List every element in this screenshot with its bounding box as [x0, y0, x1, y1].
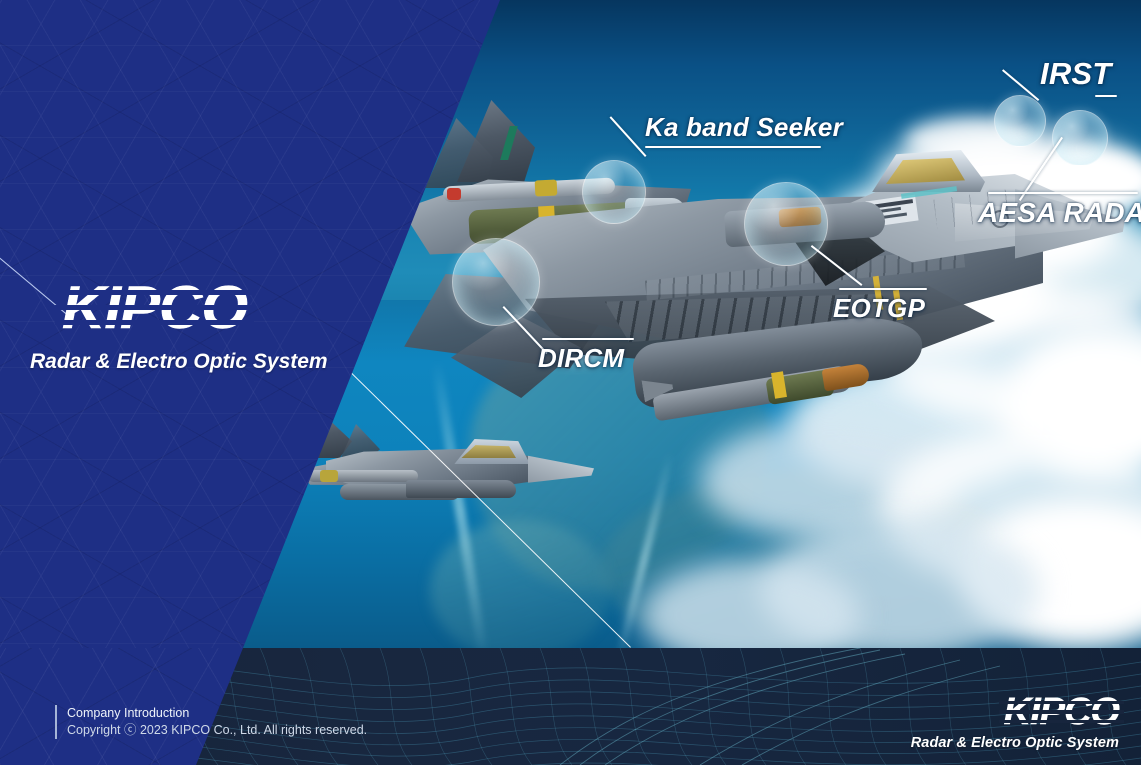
slide-canvas: IRST AESA RADAR Ka band Seeker EOTGP DIR…: [0, 0, 1141, 765]
footer-band: Company Introduction Copyright ⓒ 2023 KI…: [0, 648, 1141, 765]
callout-overline-eotgp: [839, 288, 927, 290]
callout-overline-aesa-radar: [988, 192, 1138, 194]
highlight-sphere-irst: [994, 95, 1046, 147]
highlight-sphere-dircm: [452, 238, 540, 326]
secondary-aircraft: [296, 408, 596, 518]
callout-label-aesa-radar: AESA RADAR: [978, 199, 1141, 227]
footer-line-copyright: Copyright ⓒ 2023 KIPCO Co., Ltd. All rig…: [67, 722, 367, 739]
kipco-wordmark: KIPCO: [62, 278, 247, 338]
highlight-sphere-eotgp: [744, 182, 828, 266]
callout-eotgp: EOTGP: [833, 288, 927, 321]
footer-kipco-wordmark: KIPCO: [1004, 693, 1119, 731]
footer-kipco-wordmark-text: KIPCO: [1004, 691, 1119, 733]
kipco-wordmark-text: KIPCO: [62, 274, 247, 341]
footer-brand-lockup: KIPCO Radar & Electro Optic System: [911, 693, 1119, 751]
callout-dircm: DIRCM: [538, 338, 634, 371]
callout-label-irst: IRST: [1040, 58, 1117, 89]
callout-label-eotgp: EOTGP: [833, 295, 927, 321]
callout-underline-ka-band-seeker: [645, 146, 821, 148]
footer-line-title: Company Introduction: [67, 705, 367, 722]
footer-copyright-block: Company Introduction Copyright ⓒ 2023 KI…: [55, 705, 367, 739]
callout-ka-band-seeker: Ka band Seeker: [645, 114, 843, 148]
callout-overline-dircm: [542, 338, 634, 340]
highlight-sphere-ka-band-seeker: [582, 160, 646, 224]
callout-irst: IRST: [1040, 58, 1117, 97]
brand-lockup: KIPCO Radar & Electro Optic System: [62, 278, 362, 374]
callout-underline-irst: [1095, 95, 1117, 97]
callout-label-ka-band-seeker: Ka band Seeker: [645, 114, 843, 140]
footer-brand-tagline: Radar & Electro Optic System: [911, 735, 1119, 751]
callout-label-dircm: DIRCM: [538, 345, 634, 371]
callout-aesa-radar: AESA RADAR: [978, 192, 1141, 227]
brand-tagline: Radar & Electro Optic System: [30, 350, 362, 374]
